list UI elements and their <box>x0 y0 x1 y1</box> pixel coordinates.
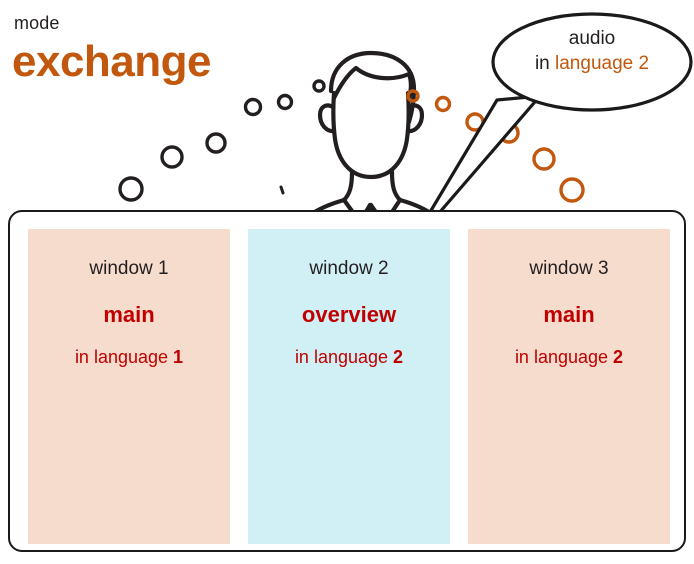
window-column-2[interactable]: window 2 overview in language 2 <box>248 229 450 544</box>
window-1-language-prefix: in language <box>75 347 173 367</box>
window-1-language: in language 1 <box>28 348 230 366</box>
orange-bubble <box>467 114 483 130</box>
speech-bubble-line2-prefix: in <box>535 53 555 74</box>
windows-columns: window 1 main in language 1 window 2 ove… <box>28 229 670 544</box>
black-bubble <box>162 147 182 167</box>
window-2-language-prefix: in language <box>295 347 393 367</box>
orange-bubble <box>534 149 554 169</box>
orange-bubble <box>408 91 418 101</box>
speech-bubble-line2-highlight: language 2 <box>555 53 649 74</box>
window-1-language-number: 1 <box>173 347 183 367</box>
window-2-language: in language 2 <box>248 348 450 366</box>
speech-bubble-line-2: in language 2 <box>496 51 688 76</box>
window-column-1[interactable]: window 1 main in language 1 <box>28 229 230 544</box>
window-3-title: window 3 <box>468 259 670 278</box>
window-1-title: window 1 <box>28 259 230 278</box>
window-2-language-number: 2 <box>393 347 403 367</box>
window-2-title: window 2 <box>248 259 450 278</box>
orange-bubble <box>437 98 450 111</box>
black-bubble-trail <box>120 81 324 200</box>
orange-bubble <box>561 179 583 201</box>
window-1-mode: main <box>28 304 230 326</box>
orange-bubble-trail <box>408 91 583 201</box>
mode-label: mode <box>14 14 59 32</box>
windows-panel: window 1 main in language 1 window 2 ove… <box>8 210 686 552</box>
mode-value-exchange: exchange <box>12 40 211 84</box>
orange-bubble <box>500 124 518 142</box>
diagram-canvas: mode exchange <box>0 0 694 564</box>
window-2-mode: overview <box>248 304 450 326</box>
speech-bubble-text: audio in language 2 <box>496 26 688 76</box>
window-column-3[interactable]: window 3 main in language 2 <box>468 229 670 544</box>
black-bubble <box>314 81 324 91</box>
window-3-mode: main <box>468 304 670 326</box>
black-bubble <box>120 178 142 200</box>
window-3-language-prefix: in language <box>515 347 613 367</box>
black-bubble <box>246 100 261 115</box>
speech-bubble-line-1: audio <box>496 26 688 51</box>
black-bubble <box>207 134 225 152</box>
black-bubble <box>279 96 292 109</box>
window-3-language-number: 2 <box>613 347 623 367</box>
window-3-language: in language 2 <box>468 348 670 366</box>
